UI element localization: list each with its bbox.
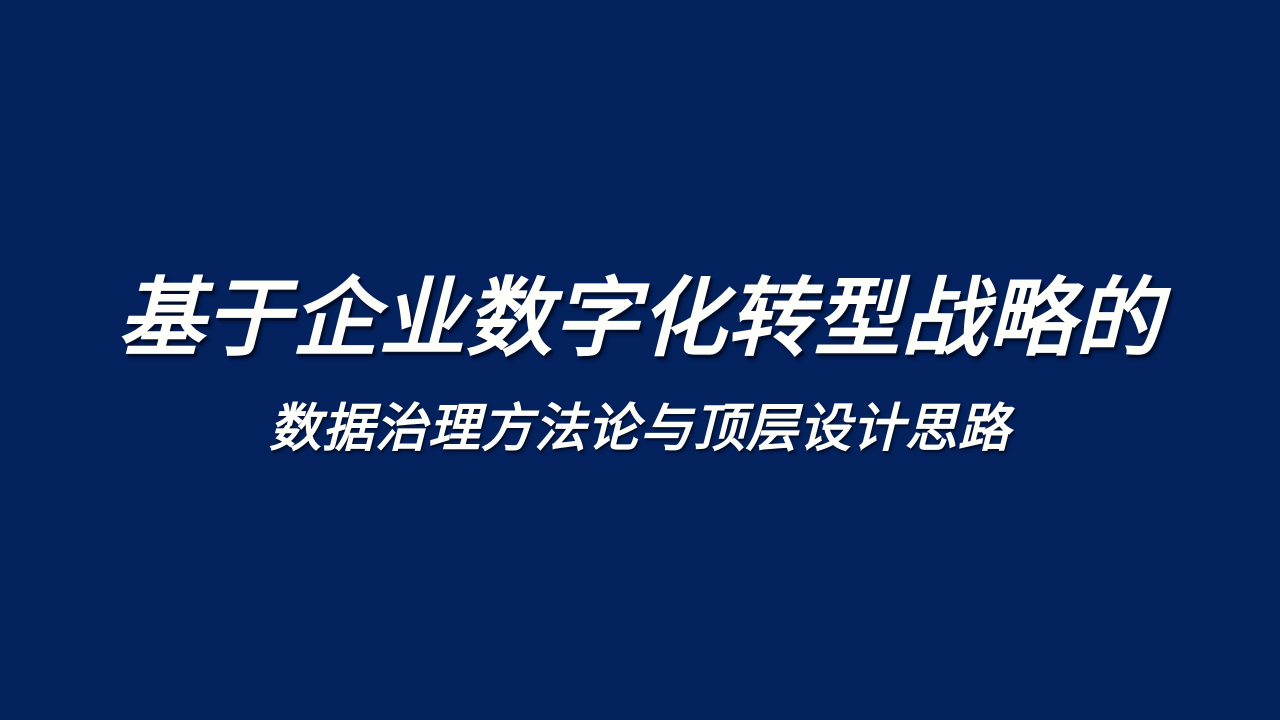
title-slide: 基于企业数字化转型战略的 数据治理方法论与顶层设计思路 xyxy=(0,0,1280,720)
page-subtitle: 数据治理方法论与顶层设计思路 xyxy=(50,398,1230,460)
page-title: 基于企业数字化转型战略的 xyxy=(50,271,1230,367)
title-block: 基于企业数字化转型战略的 数据治理方法论与顶层设计思路 xyxy=(0,0,1280,720)
